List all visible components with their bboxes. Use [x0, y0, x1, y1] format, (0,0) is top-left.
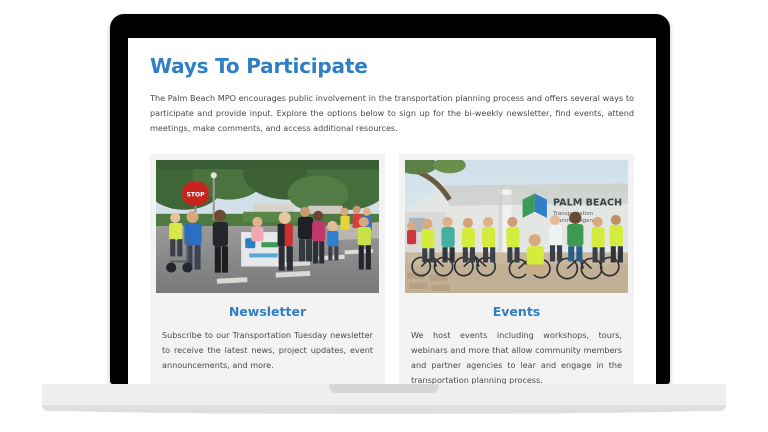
card-newsletter[interactable]: STOP [150, 154, 385, 384]
laptop-trackpad-notch [329, 384, 439, 393]
card-events[interactable]: PALM BEACH Transportation Planning Agenc… [399, 154, 634, 384]
intro-paragraph: The Palm Beach MPO encourages public inv… [128, 78, 656, 136]
walk-event-photo-illustration: STOP [156, 160, 379, 293]
page-title: Ways To Participate [128, 38, 656, 78]
card-text-events: We host events including workshops, tour… [405, 319, 628, 384]
newsletter-photo: STOP [156, 160, 379, 293]
cards-row: STOP [128, 136, 656, 384]
events-photo: PALM BEACH Transportation Planning Agenc… [405, 160, 628, 293]
svg-text:STOP: STOP [186, 192, 205, 199]
laptop-screen: Ways To Participate The Palm Beach MPO e… [128, 38, 656, 384]
card-text-newsletter: Subscribe to our Transportation Tuesday … [156, 319, 379, 373]
webpage-content: Ways To Participate The Palm Beach MPO e… [128, 38, 656, 384]
svg-text:PALM BEACH: PALM BEACH [553, 198, 622, 209]
card-title-events: Events [405, 293, 628, 319]
bike-ride-photo-illustration: PALM BEACH Transportation Planning Agenc… [405, 160, 628, 293]
card-title-newsletter: Newsletter [156, 293, 379, 319]
laptop-base-shadow [60, 410, 708, 414]
laptop-screen-bezel: Ways To Participate The Palm Beach MPO e… [110, 14, 670, 384]
laptop-mockup: Ways To Participate The Palm Beach MPO e… [0, 0, 768, 432]
